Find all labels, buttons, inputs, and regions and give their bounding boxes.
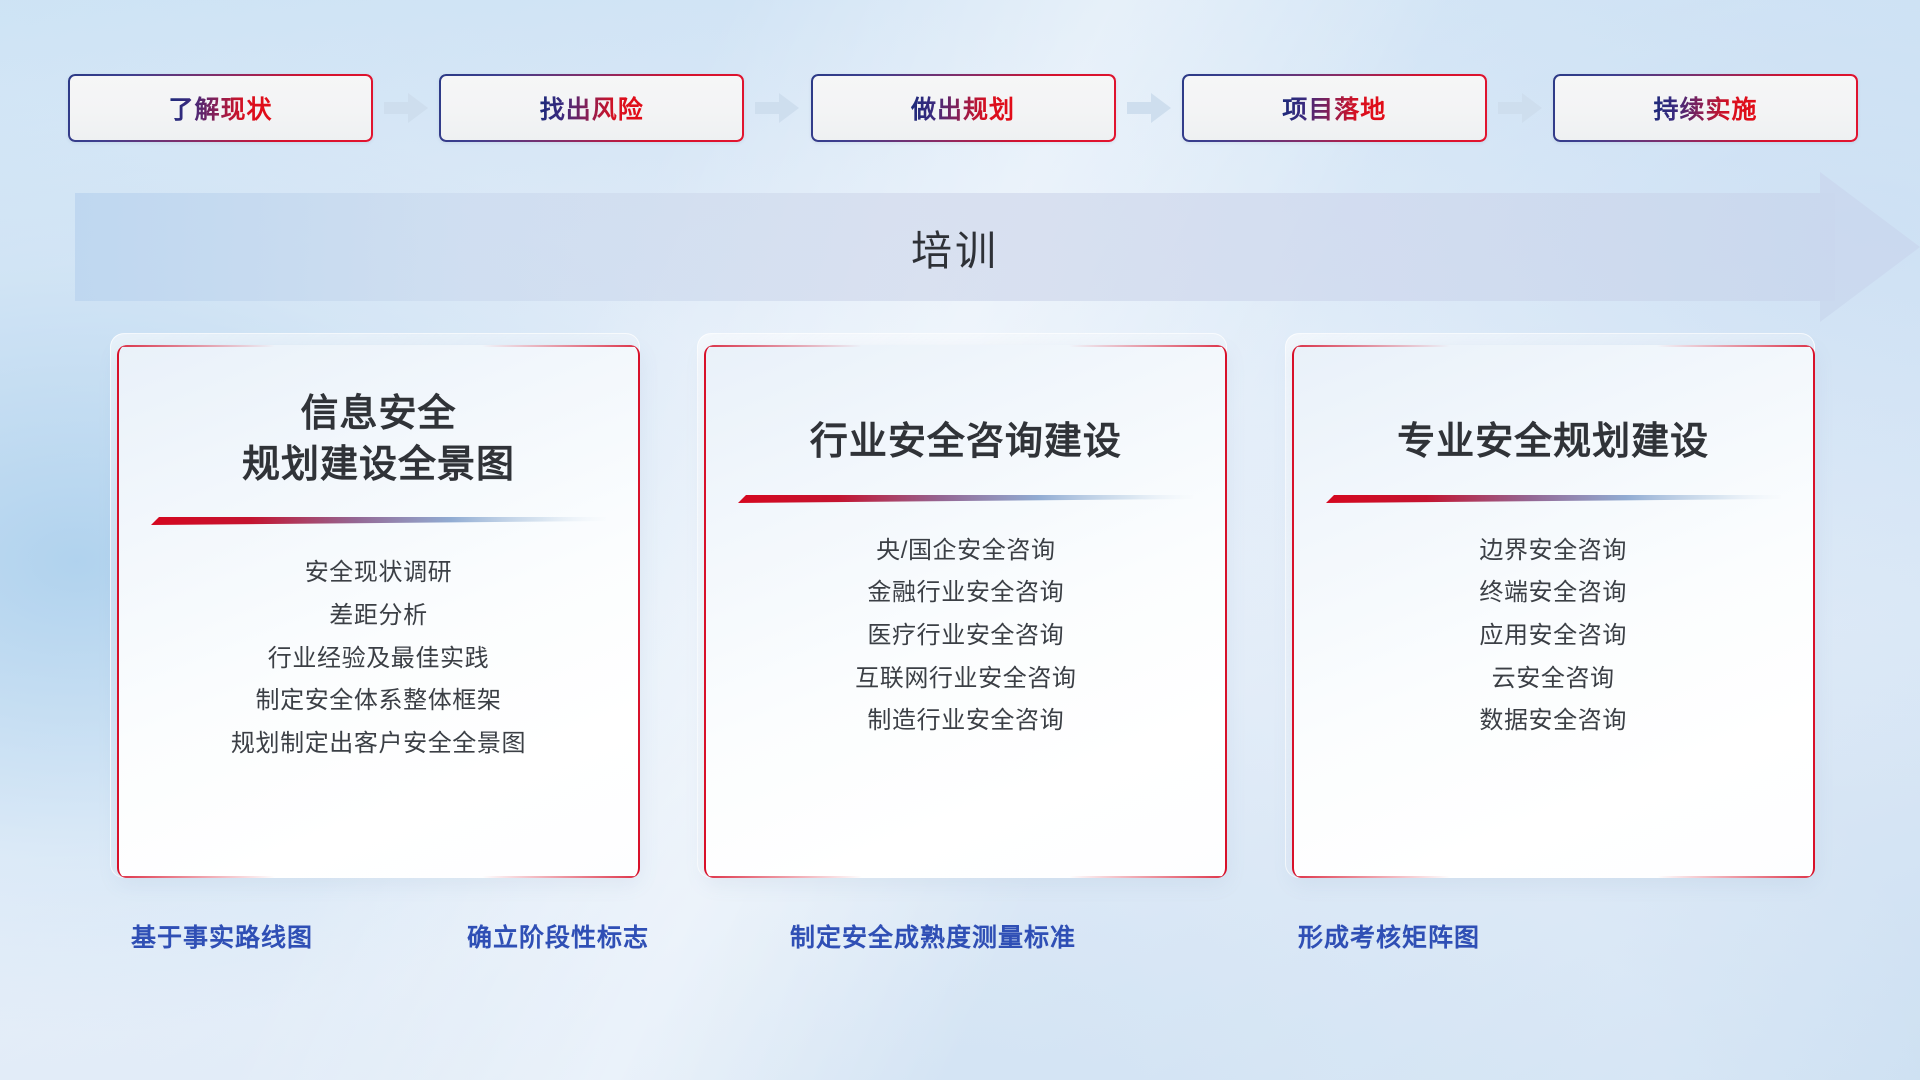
caption-2: 确立阶段性标志 [467,918,649,954]
step-label: 项目落地 [1282,90,1386,126]
right-arrow-banner-icon [1820,172,1920,322]
list-item: 差距分析 [119,595,638,638]
card-row: 信息安全 规划建设全景图 [110,333,1810,878]
card-title: 信息安全 规划建设全景图 [119,389,638,490]
card-title: 行业安全咨询建设 [706,417,1225,468]
caption-4: 形成考核矩阵图 [1298,918,1480,954]
list-item: 云安全咨询 [1294,658,1813,701]
card-wrapper-1: 信息安全 规划建设全景图 [110,333,635,878]
caption-1: 基于事实路线图 [131,918,313,954]
step-label: 了解现状 [168,90,272,126]
list-item: 规划制定出客户安全全景图 [119,723,638,766]
process-step-row: 了解现状 找出风险 做出规划 项目落地 [68,74,1858,142]
list-item: 央/国企安全咨询 [706,530,1225,573]
gradient-divider-icon [738,494,1193,504]
card-item-list: 边界安全咨询 终端安全咨询 应用安全咨询 云安全咨询 数据安全咨询 [1294,530,1813,744]
slide-canvas: 了解现状 找出风险 做出规划 项目落地 [0,0,1920,1080]
training-banner: 培训 [75,193,1920,301]
card-industry-security-consulting[interactable]: 行业安全咨询建设 [704,345,1227,878]
step-label: 持续实施 [1653,90,1757,126]
list-item: 安全现状调研 [119,552,638,595]
card-title: 专业安全规划建设 [1294,417,1813,468]
arrow-right-icon [1116,88,1182,128]
gradient-divider-icon [151,516,606,526]
list-item: 终端安全咨询 [1294,572,1813,615]
list-item: 互联网行业安全咨询 [706,658,1225,701]
card-wrapper-3: 专业安全规划建设 [1285,333,1810,878]
card-item-list: 央/国企安全咨询 金融行业安全咨询 医疗行业安全咨询 互联网行业安全咨询 制造行… [706,530,1225,744]
step-chip-5[interactable]: 持续实施 [1553,74,1858,142]
list-item: 数据安全咨询 [1294,700,1813,743]
list-item: 制造行业安全咨询 [706,700,1225,743]
banner-title: 培训 [75,193,1835,301]
list-item: 边界安全咨询 [1294,530,1813,573]
list-item: 医疗行业安全咨询 [706,615,1225,658]
step-chip-2[interactable]: 找出风险 [439,74,744,142]
step-chip-4[interactable]: 项目落地 [1182,74,1487,142]
gradient-divider-icon [1326,494,1781,504]
card-item-list: 安全现状调研 差距分析 行业经验及最佳实践 制定安全体系整体框架 规划制定出客户… [119,552,638,766]
list-item: 制定安全体系整体框架 [119,680,638,723]
step-chip-3[interactable]: 做出规划 [811,74,1116,142]
step-chip-1[interactable]: 了解现状 [68,74,373,142]
step-label: 找出风险 [540,90,644,126]
arrow-right-icon [373,88,439,128]
caption-3: 制定安全成熟度测量标准 [790,918,1076,954]
card-information-security-panorama[interactable]: 信息安全 规划建设全景图 [117,345,640,878]
caption-row: 基于事实路线图 确立阶段性标志 制定安全成熟度测量标准 形成考核矩阵图 [0,918,1920,964]
arrow-right-icon [744,88,810,128]
card-professional-security-planning[interactable]: 专业安全规划建设 [1292,345,1815,878]
list-item: 应用安全咨询 [1294,615,1813,658]
step-label: 做出规划 [911,90,1015,126]
list-item: 行业经验及最佳实践 [119,638,638,681]
list-item: 金融行业安全咨询 [706,572,1225,615]
arrow-right-icon [1487,88,1553,128]
card-wrapper-2: 行业安全咨询建设 [697,333,1222,878]
